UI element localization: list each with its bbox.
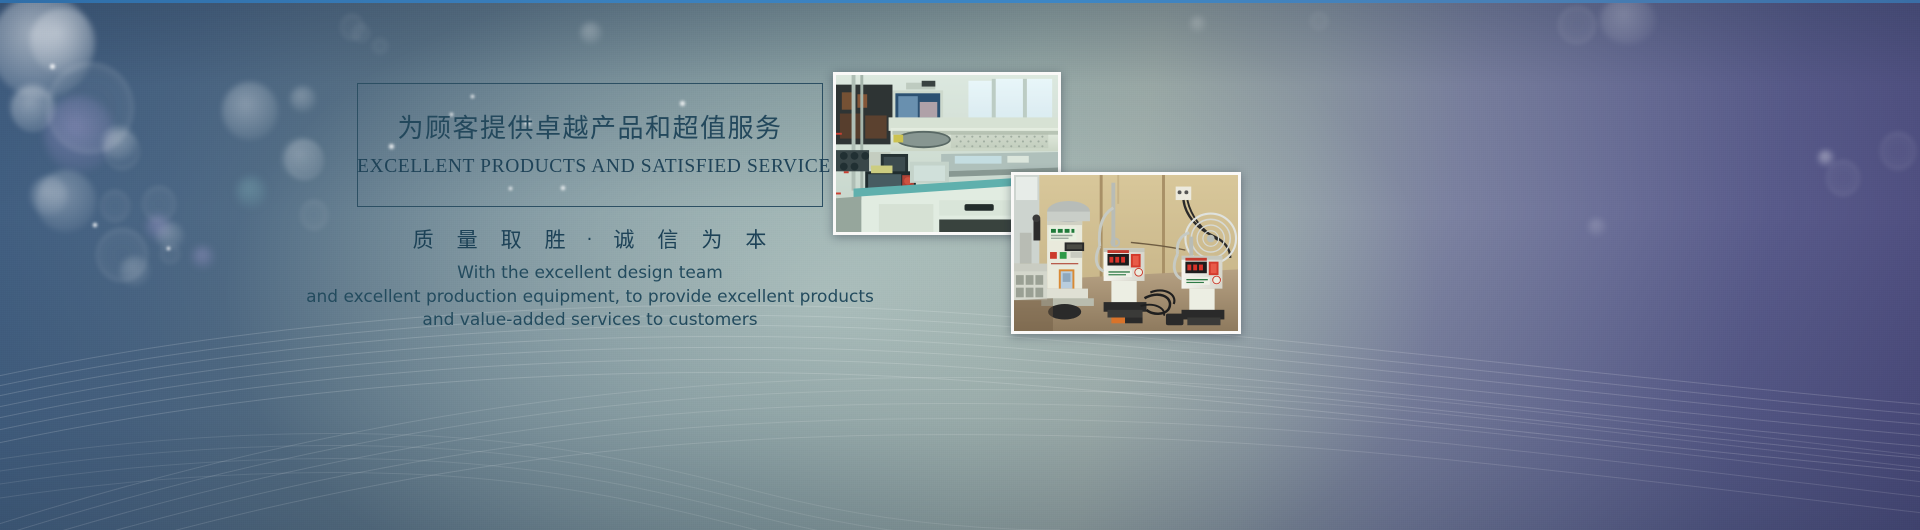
headline-chinese: 为顾客提供卓越产品和超值服务 [357,108,823,145]
description-line: and value-added services to customers [290,309,890,333]
description-line: With the excellent design team [290,262,890,286]
slogan-char: 为 [690,224,734,254]
slogan-char: 诚 [602,224,646,254]
headline-frame [357,83,823,207]
promo-banner: 为顾客提供卓越产品和超值服务 EXCELLENT PRODUCTS AND SA… [0,0,1920,530]
press-machines-photo [1011,172,1241,334]
top-accent-rule [0,0,1920,3]
description-paragraph: With the excellent design team and excel… [290,262,890,333]
slogan-chinese: 质量取胜·诚信为本 [340,224,840,254]
slogan-char: 信 [646,224,690,254]
slogan-separator-dot: · [578,229,603,250]
headline-english: EXCELLENT PRODUCTS AND SATISFIED SERVICE [357,156,823,178]
slogan-char: 本 [734,224,778,254]
slogan-char: 取 [490,224,534,254]
wave-decoration [0,230,1920,530]
slogan-char: 量 [446,224,490,254]
slogan-char: 胜 [534,224,578,254]
slogan-char: 质 [402,224,446,254]
description-line: and excellent production equipment, to p… [290,286,890,310]
